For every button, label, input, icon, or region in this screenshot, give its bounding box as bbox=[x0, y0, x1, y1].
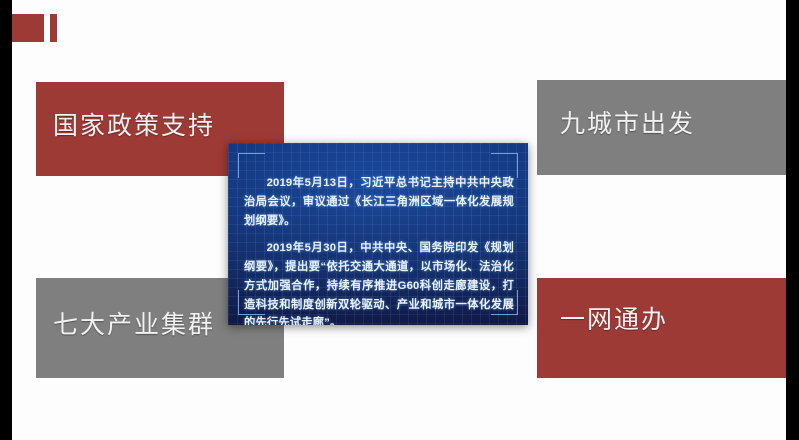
slide-canvas: 国家政策支持 九城市出发 七大产业集群 一网通办 2019年5月13日，习近平总… bbox=[0, 0, 799, 440]
letterbox-band-right bbox=[786, 0, 799, 440]
policy-text-body: 2019年5月13日，习近平总书记主持中共中央政治局会议，审议通过《长江三角洲区… bbox=[244, 174, 514, 325]
card-label: 九城市出发 bbox=[560, 111, 695, 139]
decorative-red-bar bbox=[50, 14, 57, 42]
card-nine-cities-departure[interactable]: 九城市出发 bbox=[537, 80, 786, 175]
card-label: 一网通办 bbox=[560, 307, 668, 335]
card-label: 七大产业集群 bbox=[53, 312, 215, 340]
policy-paragraph: 2019年5月30日，中共中央、国务院印发《规划纲要》，提出要“依托交通大通道，… bbox=[244, 239, 514, 325]
letterbox-band-left bbox=[0, 0, 12, 440]
card-label: 国家政策支持 bbox=[53, 113, 215, 141]
decorative-red-block bbox=[12, 14, 44, 42]
policy-text-panel: 2019年5月13日，习近平总书记主持中共中央政治局会议，审议通过《长江三角洲区… bbox=[228, 143, 528, 325]
policy-paragraph: 2019年5月13日，习近平总书记主持中共中央政治局会议，审议通过《长江三角洲区… bbox=[244, 174, 514, 230]
card-one-net-service[interactable]: 一网通办 bbox=[537, 278, 786, 378]
